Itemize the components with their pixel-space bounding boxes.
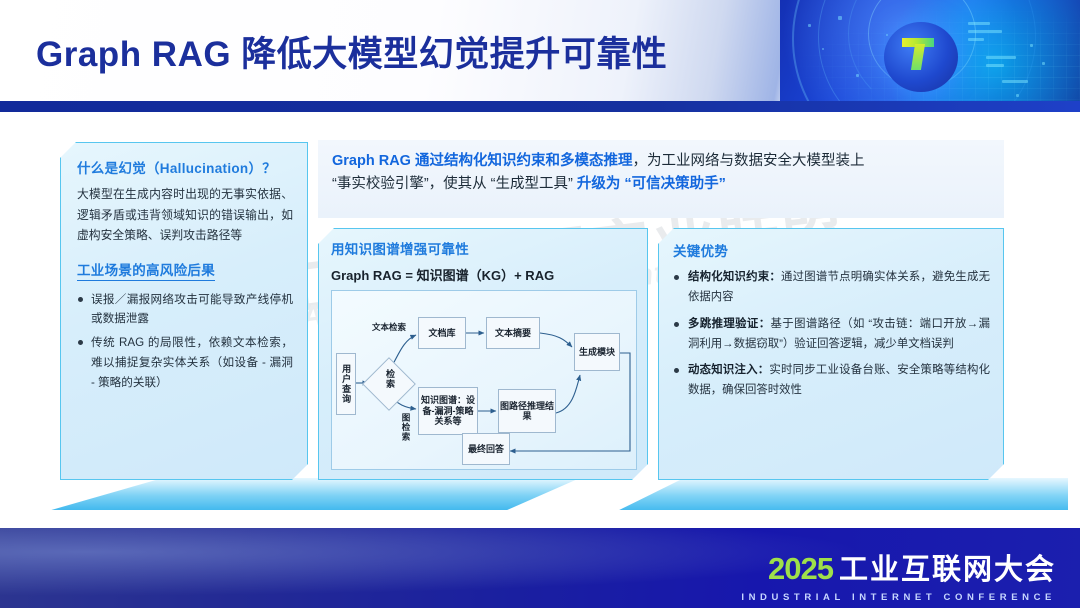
header-tech-graphic [780,0,1080,108]
flow-node-retrieve-label: 检索 [384,369,397,389]
advantages-list: 结构化知识约束：通过图谱节点明确实体关系，避免生成无依据内容 多跳推理验证：基于… [673,267,990,401]
advantage-key: 结构化知识约束： [688,271,781,283]
right-panel-heading: 关键优势 [673,240,990,260]
mid-panel-heading: 用知识图谱增强可靠性 [331,238,636,258]
decor-shelf-left [20,478,580,510]
banner-line-1-highlight: Graph RAG 通过结构化知识约束和多模态推理 [332,153,632,169]
left-panel-heading: 什么是幻觉（Hallucination）？ [77,157,293,177]
rag-flow-diagram: 用户查询 检索 文本检索 图检索 文档库 文本摘要 知识图谱：设备-漏洞-策略关… [331,290,637,470]
left-panel-definition: 大模型在生成内容时出现的无事实依据、逻辑矛盾或违背领域知识的错误输出，如虚构安全… [77,184,293,246]
list-item: 误报／漏报网络攻击可能导致产线停机或数据泄露 [77,290,293,330]
left-panel-subheading: 工业场景的高风险后果 [77,259,215,281]
slide-header: Graph RAG 降低大模型幻觉提升可靠性 [0,0,1080,108]
banner-line-1-rest: ，为工业网络与数据安全大模型装上 [632,153,864,169]
list-item: 多跳推理验证：基于图谱路径（如 “攻击链：端口开放→漏洞利用→数据窃取”）验证回… [673,314,990,355]
decor-shelf-right [588,478,1068,510]
banner-line-2-highlight: 升级为 “可信决策助手” [577,176,726,192]
flow-node-user-query: 用户查询 [336,353,356,415]
flow-node-final-answer: 最终回答 [462,433,510,465]
flow-label-text-retrieval: 文本检索 [372,321,406,333]
panel-summary-banner: Graph RAG 通过结构化知识约束和多模态推理，为工业网络与数据安全大模型装… [318,140,1004,218]
flow-node-text-summary: 文本摘要 [486,317,540,349]
panel-hallucination: 什么是幻觉（Hallucination）？ 大模型在生成内容时出现的无事实依据、… [60,142,308,480]
banner-line-2-part1: “事实校验引擎”，使其从 “生成型工具” [332,176,573,192]
header-divider-bar [0,101,1080,112]
header-dot-pattern [790,4,1070,104]
list-item: 动态知识注入：实时同步工业设备台账、安全策略等结构化数据，确保回答时效性 [673,360,990,401]
panel-key-advantages: 关键优势 结构化知识约束：通过图谱节点明确实体关系，避免生成无依据内容 多跳推理… [658,228,1004,480]
page-title: Graph RAG 降低大模型幻觉提升可靠性 [36,26,667,77]
flow-node-generator: 生成模块 [574,333,620,371]
banner-line-1: Graph RAG 通过结构化知识约束和多模态推理，为工业网络与数据安全大模型装… [332,150,990,173]
advantage-key: 动态知识注入： [688,364,769,376]
mid-panel-equation: Graph RAG = 知识图谱（KG）+ RAG [331,265,636,284]
logo-name-cn: 工业互联网大会 [839,546,1056,588]
left-panel-bullet-list: 误报／漏报网络攻击可能导致产线停机或数据泄露 传统 RAG 的局限性，依赖文本检… [77,290,293,394]
logo-name-en: INDUSTRIAL INTERNET CONFERENCE [741,592,1056,603]
advantage-key: 多跳推理验证： [688,318,771,330]
flow-label-graph-retrieval: 图检索 [400,413,412,442]
panel-knowledge-graph: 用知识图谱增强可靠性 Graph RAG = 知识图谱（KG）+ RAG [318,228,648,480]
banner-line-2: “事实校验引擎”，使其从 “生成型工具” 升级为 “可信决策助手” [332,173,990,196]
list-item: 传统 RAG 的局限性，依赖文本检索，难以捕捉复杂实体关系（如设备 - 漏洞 -… [77,333,293,393]
slide-footer: 2025 工业互联网大会 INDUSTRIAL INTERNET CONFERE… [0,528,1080,608]
flow-node-doc-store: 文档库 [418,317,466,349]
list-item: 结构化知识约束：通过图谱节点明确实体关系，避免生成无依据内容 [673,267,990,308]
slide-root: Graph RAG 降低大模型幻觉提升可靠性 工业互联网产业联盟 Allianc… [0,0,1080,608]
flow-node-knowledge-graph: 知识图谱：设备-漏洞-策略关系等 [418,387,478,435]
logo-year: 2025 [768,551,833,587]
conference-logo: 2025 工业互联网大会 INDUSTRIAL INTERNET CONFERE… [741,546,1056,603]
flow-node-path-result: 图路径推理结果 [498,389,556,433]
